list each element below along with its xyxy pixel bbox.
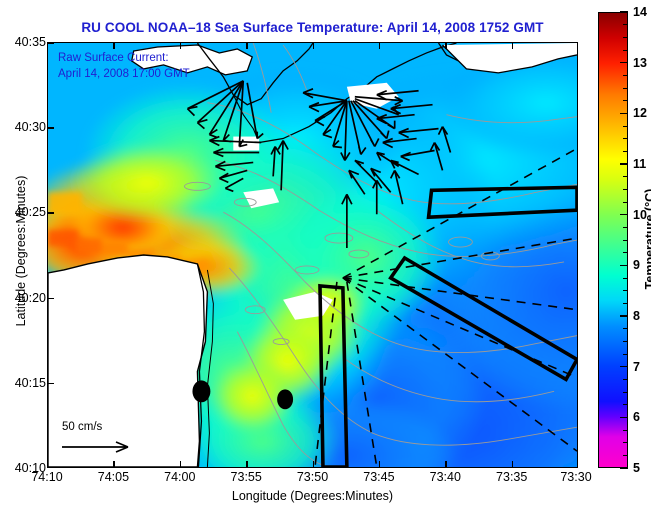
y-tick-label: 40:15	[2, 376, 46, 390]
colorbar-minor-tick	[623, 328, 628, 329]
colorbar-minor-tick	[623, 341, 628, 342]
colorbar-minor-tick	[623, 430, 628, 431]
colorbar-tick-mark	[620, 11, 628, 13]
colorbar-title: Temperature (°C)	[643, 159, 651, 319]
scale-bar-label: 50 cm/s	[62, 421, 102, 433]
x-tick-label: 73:40	[430, 470, 461, 484]
colorbar-tick-mark	[620, 315, 628, 317]
station-marker	[192, 380, 210, 402]
colorbar-minor-tick	[623, 50, 628, 51]
x-axis-title: Longitude (Degrees:Minutes)	[47, 489, 578, 503]
x-tick-label: 74:05	[98, 470, 129, 484]
current-annotation-line2: April 14, 2008 17:00 GMT	[58, 67, 190, 82]
colorbar-tick-label: 13	[633, 56, 647, 70]
colorbar-minor-tick	[623, 75, 628, 76]
colorbar-tick-label: 8	[633, 309, 640, 323]
x-tick-label: 74:10	[31, 470, 62, 484]
figure-title: RU COOL NOAA–18 Sea Surface Temperature:…	[47, 20, 578, 35]
colorbar-minor-tick	[623, 189, 628, 190]
colorbar-minor-tick	[623, 240, 628, 241]
colorbar-minor-tick	[623, 37, 628, 38]
colorbar-minor-tick	[623, 88, 628, 89]
colorbar-minor-tick	[623, 278, 628, 279]
colorbar-minor-tick	[623, 138, 628, 139]
colorbar-tick-label: 14	[633, 5, 647, 19]
colorbar-tick-mark	[620, 163, 628, 165]
scale-bar-arrow-icon	[60, 437, 136, 457]
colorbar-tick-label: 9	[633, 258, 640, 272]
current-annotation-line1: Raw Surface Current:	[58, 51, 169, 66]
x-tick-label: 74:00	[164, 470, 195, 484]
colorbar-minor-tick	[623, 227, 628, 228]
colorbar-tick-label: 5	[633, 461, 640, 475]
colorbar-tick-label: 6	[633, 410, 640, 424]
x-tick-label: 73:30	[560, 470, 591, 484]
colorbar-minor-tick	[623, 176, 628, 177]
y-tick-label: 40:35	[2, 35, 46, 49]
colorbar-tick-mark	[620, 62, 628, 64]
station-marker	[277, 389, 293, 409]
colorbar-tick-mark	[620, 366, 628, 368]
x-tick-label: 73:45	[363, 470, 394, 484]
sst-map-figure: RU COOL NOAA–18 Sea Surface Temperature:…	[0, 0, 651, 519]
colorbar-minor-tick	[623, 442, 628, 443]
colorbar-minor-tick	[623, 290, 628, 291]
colorbar-tick-label: 7	[633, 360, 640, 374]
x-tick-label: 73:50	[297, 470, 328, 484]
colorbar-minor-tick	[623, 126, 628, 127]
colorbar-tick-mark	[620, 113, 628, 115]
colorbar-tick-mark	[620, 265, 628, 267]
colorbar-minor-tick	[623, 202, 628, 203]
map-plot-area: Raw Surface Current: April 14, 2008 17:0…	[47, 42, 578, 468]
colorbar-minor-tick	[623, 379, 628, 380]
colorbar-minor-tick	[623, 354, 628, 355]
colorbar-minor-tick	[623, 100, 628, 101]
y-axis-title: Latitude (Degrees:Minutes)	[14, 131, 28, 371]
colorbar-minor-tick	[623, 24, 628, 25]
colorbar-minor-tick	[623, 404, 628, 405]
x-tick-label: 73:35	[496, 470, 527, 484]
x-tick-label: 73:55	[231, 470, 262, 484]
colorbar-tick-mark	[620, 214, 628, 216]
colorbar-minor-tick	[623, 151, 628, 152]
colorbar-minor-tick	[623, 252, 628, 253]
colorbar-tick-mark	[620, 417, 628, 419]
colorbar-tick-label: 12	[633, 106, 647, 120]
sst-raster	[48, 43, 577, 467]
colorbar-minor-tick	[623, 455, 628, 456]
colorbar-minor-tick	[623, 392, 628, 393]
colorbar-minor-tick	[623, 303, 628, 304]
colorbar-tick-mark	[620, 467, 628, 469]
